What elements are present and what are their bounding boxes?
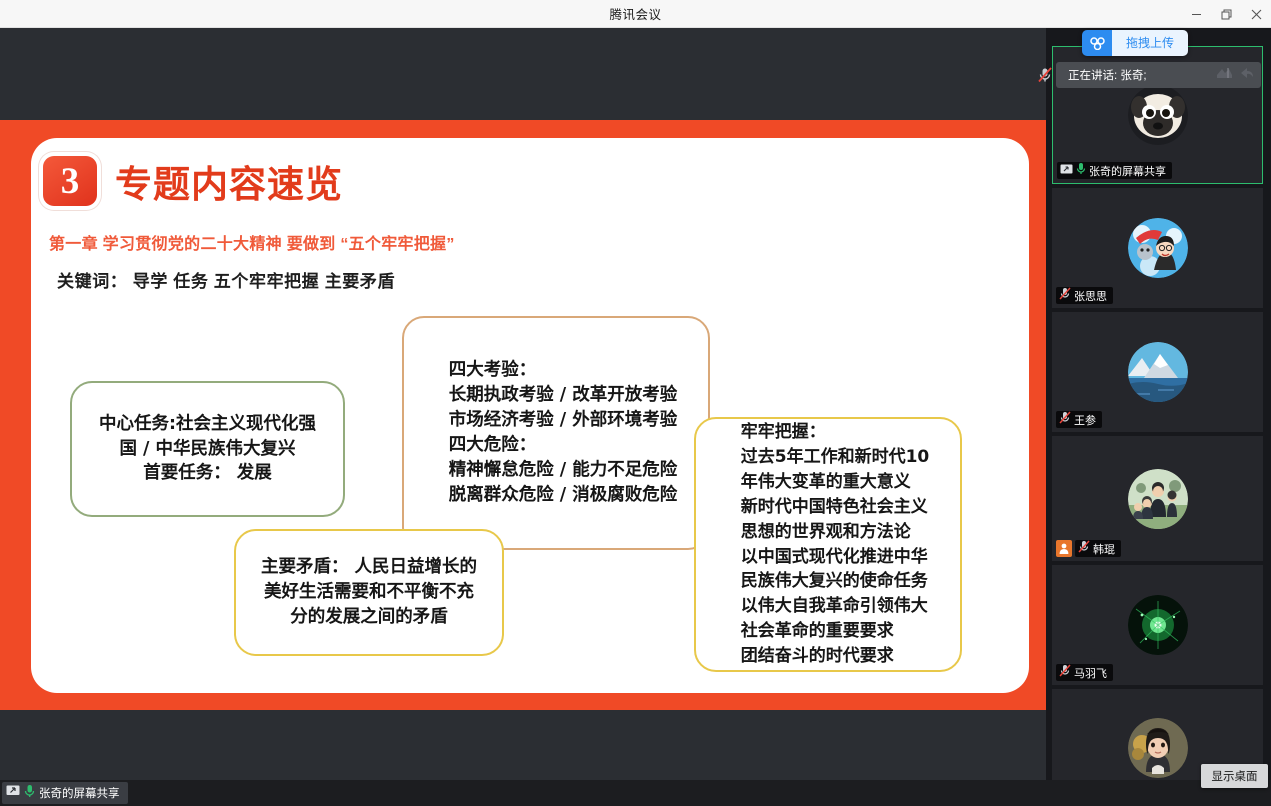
taskbar-item-label: 张奇的屏幕共享 xyxy=(39,785,120,801)
mic-muted-icon xyxy=(1059,411,1071,429)
presentation-slide: 3 专题内容速览 第一章 学习贯彻党的二十大精神 要做到 “五个牢牢把握” 关键… xyxy=(0,120,1046,710)
mic-muted-icon xyxy=(1059,664,1071,682)
content-box-firm-grasp: 牢牢把握： 过去5年工作和新时代10 年伟大变革的重大意义 新时代中国特色社会主… xyxy=(694,417,962,672)
participant-name-badge: 韩琨 xyxy=(1075,540,1121,557)
taskbar: 张奇的屏幕共享 显示桌面 xyxy=(0,780,1271,806)
content-box-tests-and-risks: 四大考验： 长期执政考验 / 改革开放考验 市场经济考验 / 外部环境考验 四大… xyxy=(402,316,710,550)
participant-tile[interactable]: 韩琨 xyxy=(1052,436,1263,561)
participant-name: 韩琨 xyxy=(1093,541,1115,557)
participant-name-badge: 马羽飞 xyxy=(1056,664,1113,681)
avatar xyxy=(1128,469,1188,529)
mic-on-icon xyxy=(1076,162,1086,180)
restore-icon xyxy=(1221,9,1232,20)
pug-dog-avatar xyxy=(1128,85,1188,145)
host-badge-icon xyxy=(1056,540,1072,557)
content-box-center-task: 中心任务:社会主义现代化强 国 / 中华民族伟大复兴 首要任务： 发展 xyxy=(70,381,345,517)
family-photo-avatar xyxy=(1128,469,1188,529)
participant-name-badge: 王参 xyxy=(1056,411,1102,428)
avatar xyxy=(1128,342,1188,402)
content-box-main-contradiction: 主要矛盾： 人民日益增长的 美好生活需要和不平衡不充 分的发展之间的矛盾 xyxy=(234,529,504,656)
slide-subtitle: 第一章 学习贯彻党的二十大精神 要做到 “五个牢牢把握” xyxy=(49,230,455,254)
green-light-avatar xyxy=(1128,595,1188,655)
drag-upload-button[interactable]: 拖拽上传 xyxy=(1082,30,1188,56)
screen-share-icon xyxy=(6,784,20,802)
participant-tile[interactable]: 马羽飞 xyxy=(1052,565,1263,685)
cartoon-girl-avatar xyxy=(1128,218,1188,278)
slide-title: 专题内容速览 xyxy=(115,154,343,208)
avatar xyxy=(1128,718,1188,778)
slide-keywords: 关键词： 导学 任务 五个牢牢把握 主要矛盾 xyxy=(57,267,395,292)
minimize-button[interactable] xyxy=(1181,0,1211,28)
content-box-firm-grasp-text: 牢牢把握： 过去5年工作和新时代10 年伟大变革的重大意义 新时代中国特色社会主… xyxy=(727,420,930,668)
close-icon xyxy=(1251,9,1262,20)
mic-muted-icon xyxy=(1078,540,1090,558)
participant-name: 张思思 xyxy=(1074,288,1107,304)
participant-name-badge: 张奇的屏幕共享 xyxy=(1057,162,1172,179)
minimize-icon xyxy=(1191,9,1202,20)
avatar xyxy=(1128,595,1188,655)
slide-card: 3 专题内容速览 第一章 学习贯彻党的二十大精神 要做到 “五个牢牢把握” 关键… xyxy=(31,138,1029,693)
taskbar-item-screen-share[interactable]: 张奇的屏幕共享 xyxy=(2,782,128,804)
mic-muted-icon xyxy=(1059,287,1071,305)
window-title: 腾讯会议 xyxy=(609,4,661,23)
participant-tile[interactable]: 张思思 xyxy=(1052,188,1263,308)
content-box-tests-and-risks-text: 四大考验： 长期执政考验 / 改革开放考验 市场经济考验 / 外部环境考验 四大… xyxy=(435,358,678,507)
arrow-collapse-icon[interactable] xyxy=(1216,66,1233,85)
mic-on-icon xyxy=(24,784,35,803)
slide-heading: 3 专题内容速览 xyxy=(43,154,343,208)
arrow-undo-icon[interactable] xyxy=(1239,66,1255,85)
avatar xyxy=(1128,85,1188,145)
active-speaker-bar: 正在讲话: 张奇; xyxy=(1056,62,1261,88)
participant-name: 张奇的屏幕共享 xyxy=(1089,163,1166,179)
show-desktop-button[interactable]: 显示桌面 xyxy=(1201,764,1268,788)
participant-sidebar: 拖拽上传 正在讲话: 张奇; xyxy=(1046,28,1271,806)
participant-name: 马羽飞 xyxy=(1074,665,1107,681)
slide-number-badge: 3 xyxy=(43,156,97,206)
close-button[interactable] xyxy=(1241,0,1271,28)
active-speaker-text: 正在讲话: 张奇; xyxy=(1068,67,1216,83)
screen-share-icon xyxy=(1060,162,1073,180)
cloud-upload-icon xyxy=(1082,30,1112,56)
content-box-center-task-text: 中心任务:社会主义现代化强 国 / 中华民族伟大复兴 首要任务： 发展 xyxy=(99,412,316,487)
title-bar: 腾讯会议 xyxy=(0,0,1271,28)
avatar xyxy=(1128,218,1188,278)
shared-screen-area: 3 专题内容速览 第一章 学习贯彻党的二十大精神 要做到 “五个牢牢把握” 关键… xyxy=(0,28,1046,778)
drag-upload-label: 拖拽上传 xyxy=(1112,30,1188,56)
meeting-window: 腾讯会议 xyxy=(0,0,1271,806)
mountain-lake-avatar xyxy=(1128,342,1188,402)
mic-muted-icon xyxy=(1036,66,1054,89)
participant-name: 王参 xyxy=(1074,412,1096,428)
window-controls xyxy=(1181,0,1271,28)
content-box-main-contradiction-text: 主要矛盾： 人民日益增长的 美好生活需要和不平衡不充 分的发展之间的矛盾 xyxy=(261,555,477,630)
portrait-woman-avatar xyxy=(1128,718,1188,778)
restore-button[interactable] xyxy=(1211,0,1241,28)
participant-name-badge: 张思思 xyxy=(1056,287,1113,304)
participant-tile[interactable]: 王参 xyxy=(1052,312,1263,432)
